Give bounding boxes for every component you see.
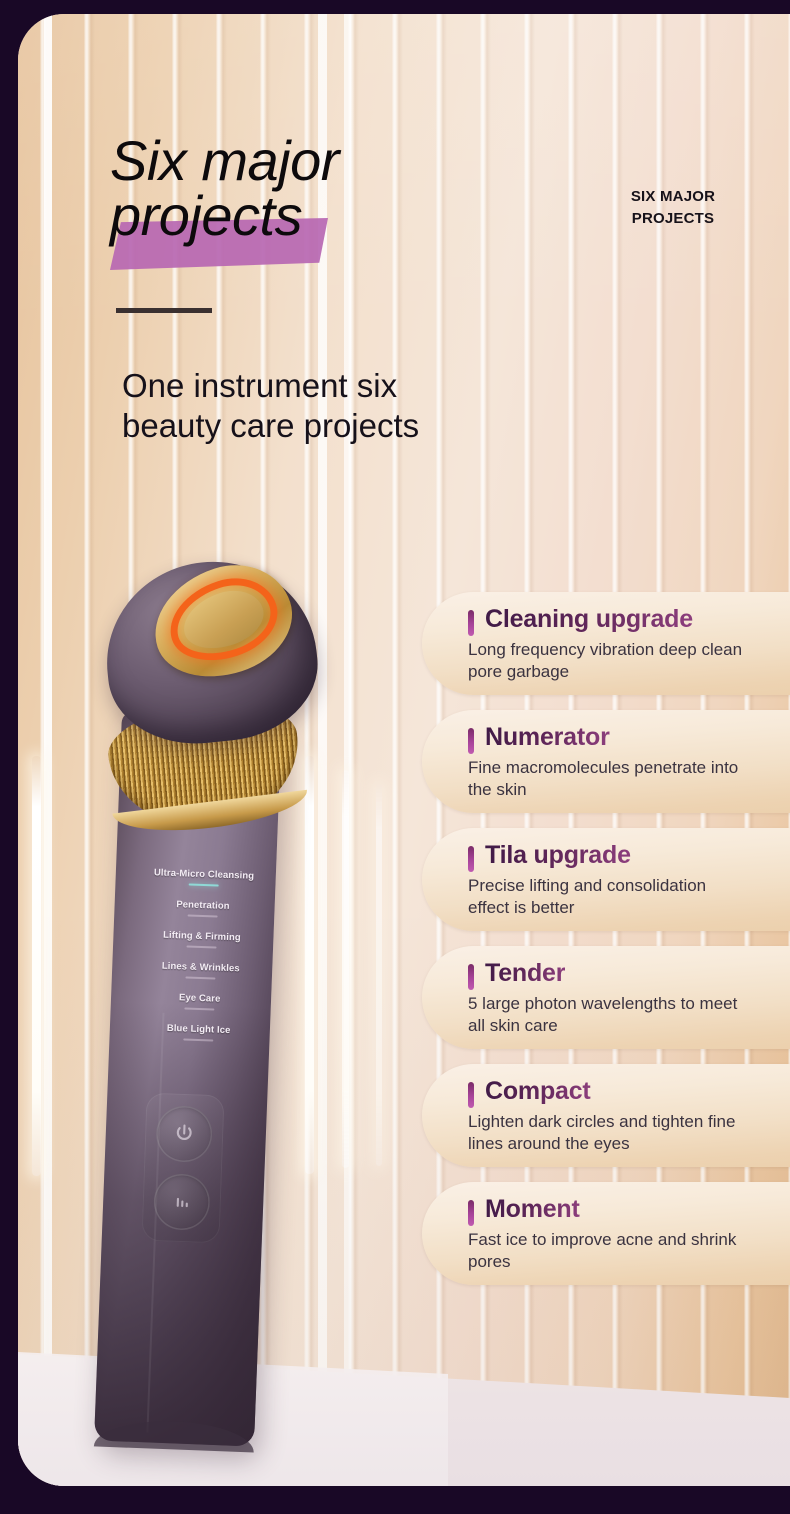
title-divider [116, 308, 212, 313]
gold-treatment-plate [140, 550, 306, 694]
device-mode-item: Blue Light Ice [113, 1021, 283, 1044]
card-accent-bar [468, 1200, 474, 1226]
feature-card[interactable]: Moment Fast ice to improve acne and shri… [422, 1182, 790, 1285]
feature-card[interactable]: Tender 5 large photon wavelengths to mee… [422, 946, 790, 1049]
device-mode-indicator [185, 976, 215, 979]
device-mode-label: Lifting & Firming [117, 928, 287, 945]
product-poster: Six major projects SIX MAJOR PROJECTS On… [0, 0, 790, 1514]
feature-description: Precise lifting and consolidation effect… [468, 875, 790, 919]
card-accent-bar [468, 728, 474, 754]
feature-description: Fine macromolecules penetrate into the s… [468, 757, 790, 801]
feature-title: Tila upgrade [485, 841, 631, 870]
feature-description: Lighten dark circles and tighten fine li… [468, 1111, 790, 1155]
light-strip [32, 756, 41, 1176]
eyebrow-label: SIX MAJOR PROJECTS [610, 186, 736, 230]
device-mode-label: Lines & Wrinkles [116, 959, 286, 976]
card-accent-bar [468, 846, 474, 872]
device-mode-item: Lifting & Firming [117, 928, 287, 951]
device-mode-item: Lines & Wrinkles [115, 959, 285, 982]
feature-card[interactable]: Compact Lighten dark circles and tighten… [422, 1064, 790, 1167]
power-icon [172, 1122, 197, 1147]
intensity-level-icon [169, 1190, 194, 1215]
feature-card[interactable]: Numerator Fine macromolecules penetrate … [422, 710, 790, 813]
feature-description: 5 large photon wavelengths to meet all s… [468, 993, 790, 1037]
device-mode-indicator [188, 915, 218, 918]
feature-card[interactable]: Cleaning upgrade Long frequency vibratio… [422, 592, 790, 695]
device-mode-label: Penetration [118, 897, 288, 914]
device-mode-label: Blue Light Ice [114, 1021, 284, 1038]
feature-title: Compact [485, 1077, 591, 1106]
feature-card[interactable]: Tila upgrade Precise lifting and consoli… [422, 828, 790, 931]
feature-description: Long frequency vibration deep clean pore… [468, 639, 790, 683]
device-mode-item: Eye Care [114, 990, 284, 1013]
device-mode-label: Eye Care [115, 990, 285, 1007]
card-accent-bar [468, 1082, 474, 1108]
feature-title: Moment [485, 1195, 580, 1224]
device-mode-indicator [184, 1007, 214, 1010]
power-button[interactable] [155, 1105, 213, 1163]
device-mode-indicator [183, 1038, 213, 1041]
feature-title: Tender [485, 959, 565, 988]
feature-description: Fast ice to improve acne and shrink pore… [468, 1229, 790, 1273]
beauty-device-illustration: Ultra-Micro Cleansing Penetration Liftin… [48, 534, 378, 1484]
intensity-button[interactable] [153, 1173, 211, 1231]
card-accent-bar [468, 964, 474, 990]
feature-card-list: Cleaning upgrade Long frequency vibratio… [422, 592, 790, 1300]
device-mode-indicator [189, 884, 219, 887]
feature-title: Cleaning upgrade [485, 605, 693, 634]
content-panel: Six major projects SIX MAJOR PROJECTS On… [18, 14, 790, 1486]
page-title: Six major projects [110, 134, 540, 244]
page-subtitle: One instrument six beauty care projects [122, 366, 592, 447]
card-accent-bar [468, 610, 474, 636]
feature-title: Numerator [485, 723, 610, 752]
device-mode-item: Penetration [118, 897, 288, 920]
device-button-panel [141, 1093, 224, 1244]
device-mode-indicator [186, 945, 216, 948]
device-mode-list: Ultra-Micro Cleansing Penetration Liftin… [113, 866, 289, 1058]
